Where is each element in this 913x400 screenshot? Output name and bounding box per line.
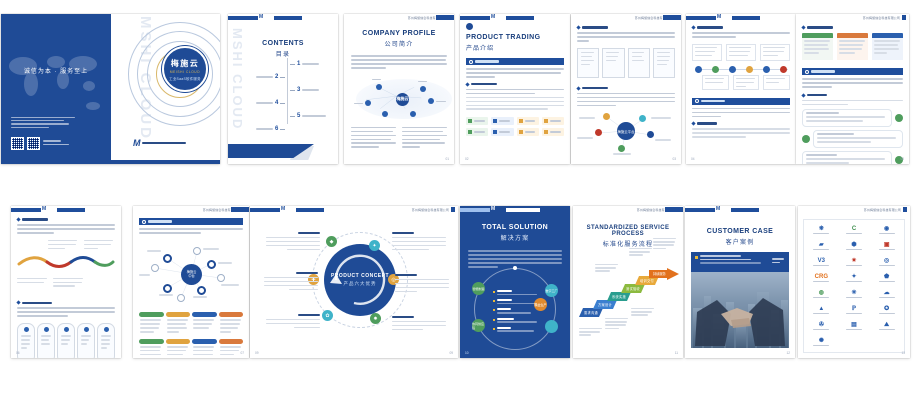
page-contents[interactable]: M MSHI CLOUD CONTENTS 目录 1 2 3 4 5 6: [228, 14, 338, 164]
customer-logo[interactable]: ☁: [870, 286, 903, 302]
customer-logo[interactable]: ⛰: [870, 318, 903, 334]
logo-mark-icon: ℙ: [852, 306, 856, 312]
logo-mark-icon: M: [133, 138, 140, 148]
contents-item-num: 5: [297, 113, 300, 119]
contents-item-num: 3: [297, 87, 300, 93]
page-product-concept[interactable]: M 苏州梅施信息科技有限公司 PRODUCT CONCEPT 产品六大优势 ◆ …: [250, 206, 458, 358]
process-note-bottom-3: [631, 308, 655, 318]
page-service-commitment[interactable]: 苏州梅施信息科技有限公司: [796, 14, 909, 164]
case-bullet-icon: [695, 256, 698, 259]
handshake-graphic: [691, 272, 789, 348]
customer-logo[interactable]: ◍: [805, 286, 838, 302]
process-step-2[interactable]: 方案设计: [593, 300, 617, 309]
header-logo-icon: M: [42, 206, 56, 213]
flow-top-notes: [17, 240, 115, 252]
timeline-bottom-notes: [702, 75, 790, 90]
advantage-text-6: [392, 316, 446, 333]
module-chip[interactable]: [219, 312, 244, 335]
section-band: [692, 98, 790, 105]
architecture-layer-cards: [577, 48, 675, 78]
page-number: 10: [465, 351, 469, 355]
cover-right-panel: MSHI CLOUD 梅施云 MEISHI CLOUD 工业SaaS软件服务 M: [111, 14, 220, 164]
process-step-4[interactable]: 测试验收: [621, 284, 645, 293]
page-title-cn: 公司简介: [344, 39, 454, 48]
customer-logo[interactable]: ❋: [805, 222, 838, 238]
spoke-node: [177, 294, 185, 302]
logo-mark-icon: ▤: [851, 322, 857, 328]
page-customer-logos[interactable]: 苏州梅施信息科技有限公司 ❋ C ◉ ▰ ⬢ ▣ V3 ✷ ◎ CRG ✦ ⬟ …: [798, 206, 910, 358]
solution-intro-text: [468, 250, 562, 268]
page-architecture[interactable]: 苏州梅施信息科技有限公司: [571, 14, 681, 164]
header-logo-icon: M: [491, 206, 505, 213]
hub-node: 梅施云平台: [617, 122, 635, 140]
brand-name-cn: 梅施云: [171, 58, 200, 69]
module-chip[interactable]: [166, 312, 191, 335]
logo-mark-icon: C: [852, 226, 856, 232]
logo-mark-icon: ✪: [884, 306, 889, 312]
page-number: 02: [465, 157, 469, 161]
value-text: [577, 93, 675, 107]
profile-network-graphic: 梅施云: [350, 73, 448, 123]
contents-item-num: 4: [275, 100, 278, 106]
process-step-1[interactable]: 需求沟通: [579, 308, 603, 317]
page-header-bar: M 苏州梅施信息科技有限公司: [250, 206, 458, 213]
header-logo-icon: M: [259, 14, 273, 21]
trading-module-chips: [466, 117, 564, 136]
cover-company-block: [11, 117, 91, 130]
subsection-heading: [577, 87, 675, 90]
concept-arrow-icon: [324, 244, 396, 316]
subsection-heading: [577, 26, 675, 29]
page-title-en: CUSTOMER CASE: [685, 228, 795, 235]
contents-title-en: CONTENTS: [228, 40, 338, 47]
logo-mark-icon: ▲: [818, 306, 824, 312]
spoke-node: [207, 260, 216, 269]
page-header-bar: M: [460, 206, 570, 213]
quality-text: [17, 224, 115, 234]
page-header-bar: 苏州梅施信息科技有限公司: [571, 14, 681, 21]
arc-top-dot: [513, 266, 517, 270]
spoke-node: [197, 286, 206, 295]
page-title-en: COMPANY PROFILE: [344, 30, 454, 37]
customer-logo[interactable]: CRG: [805, 270, 838, 286]
profile-node: [382, 111, 388, 117]
timeline-top-notes: [692, 44, 790, 61]
contents-item-num: 1: [297, 61, 300, 67]
contents-item-2[interactable]: 2: [256, 74, 285, 80]
module-chip[interactable]: [192, 312, 217, 335]
page-number: 13: [901, 351, 905, 355]
page-number: 06: [16, 351, 20, 355]
page-number: 04: [691, 157, 695, 161]
profile-intro-text: [351, 55, 447, 69]
architecture-text: [577, 32, 675, 42]
after-sales-detail: [692, 128, 790, 138]
hub-spoke-diagram: 梅施云平台: [577, 109, 675, 155]
contents-item-5[interactable]: 5: [290, 113, 326, 119]
timeline-dot: [712, 66, 719, 73]
spoke-node: [193, 247, 201, 255]
contents-title-cn: 目录: [228, 49, 338, 58]
logo-mark-icon: ▣: [884, 242, 890, 248]
qr-code-icon: [11, 137, 24, 150]
spoke-node: [163, 254, 172, 263]
profile-two-column-text: [351, 127, 447, 151]
customer-logo[interactable]: ✇: [805, 318, 838, 334]
page-number: 03: [672, 157, 676, 161]
cover-qr-block: [11, 137, 69, 150]
subsection-heading: [17, 301, 115, 304]
qa-avatar-icon: [895, 114, 903, 122]
quality-wave-chart: [17, 254, 115, 270]
advantage-text-3: [264, 272, 318, 293]
logo-mark-icon: ❈: [851, 290, 856, 296]
page-title-cn: 客户案例: [685, 237, 795, 246]
page-implementation[interactable]: M: [686, 14, 796, 164]
logo-mark-icon: ◉: [884, 226, 889, 232]
customer-logo[interactable]: ✺: [805, 334, 838, 350]
header-logo-icon: M: [281, 206, 295, 213]
advantage-text-5: [266, 314, 320, 331]
logo-mark-icon: ✦: [851, 274, 856, 280]
profile-core-node: 梅施云: [396, 93, 409, 106]
subsection-heading: [466, 83, 564, 86]
advantage-icon-2[interactable]: ✦: [369, 240, 380, 251]
timeline-dot: [729, 66, 736, 73]
advantage-icon-6[interactable]: ✸: [370, 313, 381, 324]
page-service-process[interactable]: 苏州梅施信息科技有限公司 STANDARDIZED SERVICE PROCES…: [573, 206, 683, 358]
qa-avatar-icon: [802, 135, 810, 143]
section-band: [139, 218, 243, 225]
qa-list: [802, 109, 903, 164]
process-note-top-2: [653, 238, 677, 251]
cover-slogan: 诚信为本 · 服务至上: [1, 66, 111, 75]
customer-logo[interactable]: ✦: [838, 270, 871, 286]
page-header-bar: M: [228, 14, 338, 21]
page-header-bar: 苏州梅施信息科技有限公司: [796, 14, 909, 21]
process-step-3[interactable]: 系统实施: [607, 292, 631, 301]
customer-logo[interactable]: C: [838, 222, 871, 238]
customer-logo[interactable]: ⬢: [838, 238, 871, 254]
page-title-en: TOTAL SOLUTION: [460, 224, 570, 231]
page-total-solution[interactable]: M TOTAL SOLUTION 解决方案 智能制造 数字工厂 精益生产 协同供…: [460, 206, 570, 358]
page-title-en: PRODUCT TRADING: [466, 34, 570, 41]
logo-mark-icon: ⬟: [884, 274, 889, 280]
after-sales-text: [692, 108, 790, 118]
module-chip[interactable]: [219, 339, 244, 358]
header-logo-icon: M: [717, 14, 731, 21]
profile-node: [420, 86, 426, 92]
solution-item-list: [493, 290, 537, 336]
logo-grid-empty: [870, 334, 903, 350]
cover-company-logo: M: [133, 138, 186, 148]
qr-code-icon: [27, 137, 40, 150]
solution-list-item[interactable]: [493, 290, 537, 295]
response-text: [802, 78, 903, 88]
module-chip[interactable]: [139, 312, 164, 335]
logo-mark-icon: ⬢: [851, 242, 856, 248]
process-note-bottom-2: [605, 318, 629, 331]
profile-node: [365, 100, 371, 106]
logo-mark-icon: ☁: [884, 290, 890, 296]
page-title-cn: 解决方案: [460, 233, 570, 242]
subsection-heading: [802, 94, 903, 97]
logo-mark-icon: ▰: [819, 242, 824, 248]
logo-mark-icon: ✇: [819, 322, 824, 328]
logo-mark-icon: ◎: [884, 258, 889, 264]
header-company-tag: 苏州梅施信息科技有限公司: [863, 15, 906, 20]
solution-bubble-1[interactable]: 智能制造: [472, 282, 485, 295]
spoke-node: [163, 284, 172, 293]
spoke-node: [217, 274, 225, 282]
customer-logo[interactable]: ❈: [838, 286, 871, 302]
page-number: 11: [675, 351, 678, 355]
section-band: [466, 58, 564, 65]
advantage-text-4: [395, 274, 449, 295]
header-company-name: 苏州梅施信息科技有限公司: [864, 208, 901, 212]
trading-overview-text: [466, 68, 564, 78]
customer-logo[interactable]: ✪: [870, 302, 903, 318]
page-header-bar: 苏州梅施信息科技有限公司: [573, 206, 683, 213]
qr-caption: [43, 140, 69, 147]
page-header-bar: 苏州梅施信息科技有限公司: [798, 206, 910, 213]
contents-item-6[interactable]: 6: [256, 126, 285, 132]
contents-item-num: 2: [275, 74, 278, 80]
logo-mark-icon: ⛰: [884, 322, 889, 328]
page-number: 07: [240, 351, 244, 355]
module-chip[interactable]: [166, 339, 191, 358]
contents-item-3[interactable]: 3: [290, 87, 319, 93]
page-number: 12: [786, 351, 790, 355]
contents-title: CONTENTS 目录: [228, 40, 338, 58]
header-company-tag: 苏州梅施信息科技有限公司: [412, 207, 455, 212]
page-number: 09: [255, 351, 259, 355]
page-header-bar: M: [686, 14, 796, 21]
process-note-bottom-1: [579, 328, 603, 338]
page-number: 05: [900, 157, 904, 161]
case-photo: [691, 272, 789, 348]
logo-mark-icon: ❋: [819, 226, 824, 232]
module-chip-grid: [139, 312, 243, 358]
header-logo-icon: M: [716, 206, 730, 213]
implementation-text: [692, 32, 790, 38]
logo-mark-icon: CRG: [815, 274, 828, 280]
subsection-heading: [802, 26, 903, 29]
trading-positioning-text: [466, 89, 564, 111]
customer-logo[interactable]: ✷: [838, 254, 871, 270]
contents-item-4[interactable]: 4: [256, 100, 285, 106]
solution-bubble-4[interactable]: 协同供应链: [472, 319, 485, 332]
contents-item-num: 6: [275, 126, 278, 132]
page-product-architecture[interactable]: 苏州梅施信息科技有限公司 梅施云中台: [133, 206, 249, 358]
cover-left-panel: 诚信为本 · 服务至上: [1, 14, 111, 160]
spoke-node: [151, 264, 159, 272]
contents-axis: [287, 58, 288, 124]
brochure-gallery: 诚信为本 · 服务至上 MSHI CLOUD: [0, 0, 913, 400]
customer-logo[interactable]: ⬟: [870, 270, 903, 286]
header-company-name: 苏州梅施信息科技有限公司: [863, 16, 900, 20]
timeline-dot: [695, 66, 702, 73]
process-note-top-3: [595, 264, 619, 274]
case-card-header: [691, 252, 789, 272]
process-step-6-label: 持续服务: [653, 271, 666, 276]
solution-list-item[interactable]: [493, 299, 537, 304]
subsection-heading: [692, 122, 790, 125]
customer-logo[interactable]: ▤: [838, 318, 871, 334]
page-customer-case[interactable]: M CUSTOMER CASE 客户案例: [685, 206, 795, 358]
subsection-heading: [17, 218, 115, 221]
solution-bubble-5[interactable]: [545, 320, 558, 333]
page-title-cn: 产品介绍: [466, 43, 570, 52]
page-number-right: 09: [449, 351, 453, 355]
header-company-name: 苏州梅施信息科技有限公司: [412, 208, 449, 212]
logo-mark-icon: V3: [818, 258, 825, 264]
profile-node: [410, 111, 416, 117]
page-company-profile[interactable]: 苏州梅施信息科技有限公司 COMPANY PROFILE 公司简介 梅施云: [344, 14, 454, 164]
timeline-dot: [763, 66, 770, 73]
brand-name-en: MEISHI CLOUD: [170, 70, 200, 74]
page-header-bar: 苏州梅施信息科技有限公司: [133, 206, 249, 213]
page-title-en: STANDARDIZED SERVICE PROCESS: [573, 225, 683, 237]
logo-mark-icon: ✺: [819, 338, 824, 344]
page-header-bar: M: [11, 206, 121, 213]
page-header-bar: 苏州梅施信息科技有限公司: [344, 14, 454, 21]
process-note-top-1: [629, 248, 653, 258]
cover-bottom-bar: [1, 160, 220, 164]
logo-grid-empty: [838, 334, 871, 350]
product-hub-diagram: 梅施云中台: [139, 236, 243, 310]
response-detail: [802, 100, 903, 106]
concept-core: PRODUCT CONCEPT 产品六大优势: [324, 244, 396, 316]
contents-item-1[interactable]: 1: [290, 61, 319, 67]
flow-bottom-notes: [17, 278, 115, 290]
ops-text: [17, 307, 115, 317]
header-logo-icon: M: [491, 14, 505, 21]
advantage-icon-5[interactable]: ✿: [322, 310, 333, 321]
profile-node: [428, 98, 434, 104]
module-chip[interactable]: [192, 339, 217, 358]
profile-node: [376, 84, 382, 90]
customer-logo[interactable]: ▣: [870, 238, 903, 254]
logo-mark-icon: ◍: [819, 290, 824, 296]
customer-logo[interactable]: ▰: [805, 238, 838, 254]
solution-list-item[interactable]: [493, 308, 537, 313]
cover-brand-badge: 梅施云 MEISHI CLOUD 工业SaaS软件服务: [162, 46, 208, 92]
solution-list-item[interactable]: [493, 327, 537, 332]
section-band: [802, 68, 903, 75]
brand-tagline: 工业SaaS软件服务: [169, 76, 201, 81]
ops-measure-cards: [17, 323, 115, 358]
page-product-trading[interactable]: M PRODUCT TRADING 产品介绍: [460, 14, 570, 164]
module-chip[interactable]: [139, 339, 164, 358]
architecture-intro: [139, 228, 243, 234]
advantage-icon-1[interactable]: ◆: [326, 236, 337, 247]
solution-list-item[interactable]: [493, 318, 537, 323]
customer-logo[interactable]: ▲: [805, 302, 838, 318]
solution-bubble-2[interactable]: 数字工厂: [545, 284, 558, 297]
service-tier-cards: [802, 33, 903, 60]
page-cover[interactable]: 诚信为本 · 服务至上 MSHI CLOUD: [1, 14, 220, 164]
advantage-text-2: [392, 232, 446, 253]
timeline-dot: [780, 66, 787, 73]
subsection-heading: [692, 26, 790, 29]
customer-logo[interactable]: ◎: [870, 254, 903, 270]
section-badge-icon: [466, 23, 473, 30]
advantage-text-1: [266, 232, 320, 253]
page-header-bar: M: [460, 14, 570, 21]
customer-logo[interactable]: ℙ: [838, 302, 871, 318]
header-company-tag: 苏州梅施信息科技有限公司: [864, 207, 907, 212]
implementation-timeline: [692, 65, 790, 75]
customer-logo-grid: ❋ C ◉ ▰ ⬢ ▣ V3 ✷ ◎ CRG ✦ ⬟ ◍ ❈ ☁ ▲ ℙ ✪ ✇…: [805, 222, 903, 350]
logo-mark-icon: ✷: [851, 258, 856, 264]
timeline-dot: [746, 66, 753, 73]
case-card[interactable]: [691, 252, 789, 348]
page-number: 01: [445, 157, 449, 161]
page-quality-control[interactable]: M: [11, 206, 121, 358]
hub-node: 梅施云中台: [181, 264, 202, 285]
customer-logo[interactable]: ◉: [870, 222, 903, 238]
page-header-bar: M: [685, 206, 795, 213]
customer-logo[interactable]: V3: [805, 254, 838, 270]
